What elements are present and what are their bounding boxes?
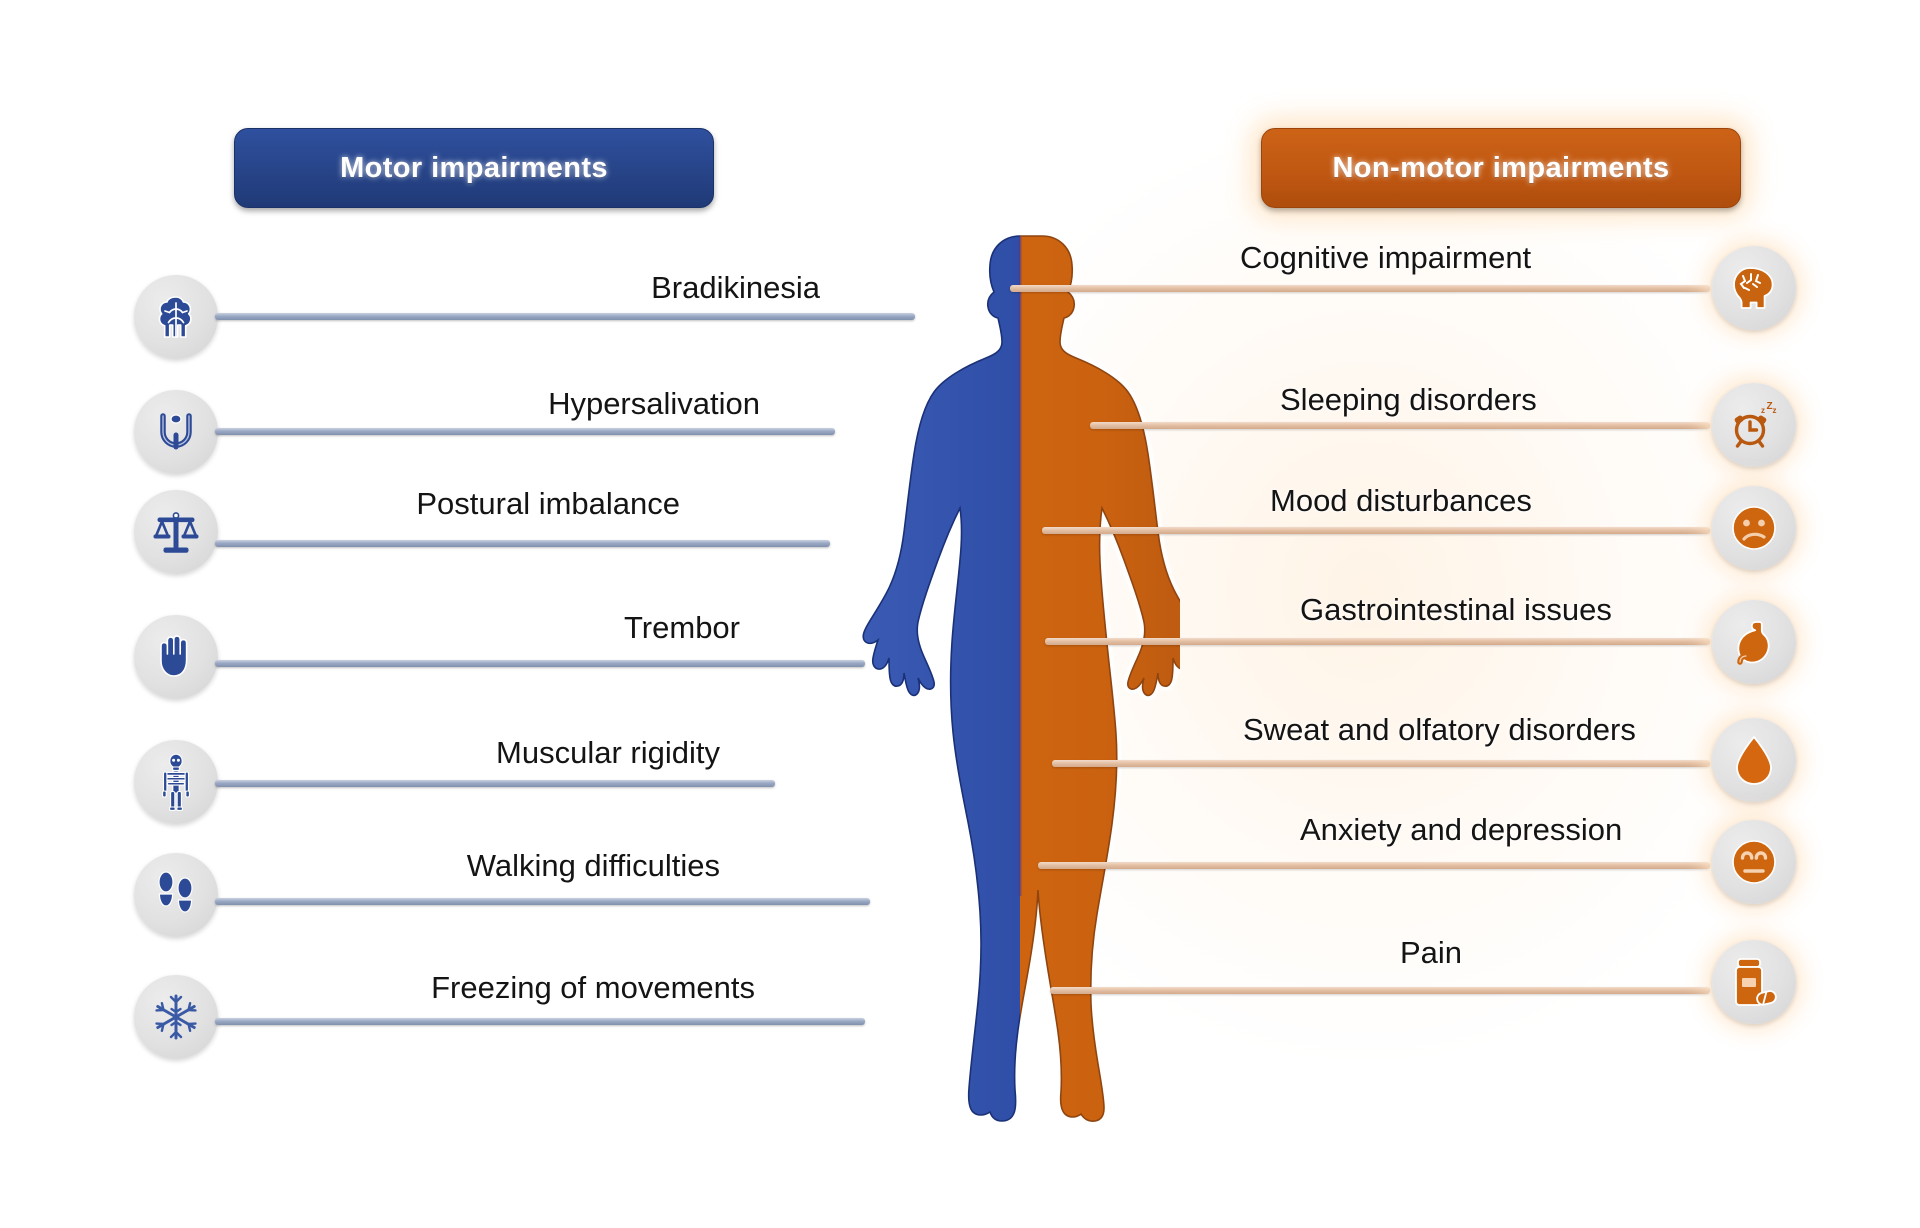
label-trembor: Trembor xyxy=(320,610,740,646)
icon-medallion-footprints[interactable] xyxy=(134,853,218,937)
label-anxiety-depression: Anxiety and depression xyxy=(1300,812,1720,848)
label-hypersalivation: Hypersalivation xyxy=(300,386,760,422)
connector-line-mood-disturbances xyxy=(1042,527,1710,534)
connector-line-anxiety-depression xyxy=(1038,862,1710,869)
connector-line-muscular-rigidity xyxy=(215,780,775,787)
stomach-icon xyxy=(1728,616,1780,668)
label-cognitive-impairment: Cognitive impairment xyxy=(1240,240,1740,276)
connector-line-pain xyxy=(1050,987,1710,994)
connector-line-sleeping-disorders xyxy=(1090,422,1710,429)
alarm-clock-zzz-icon: z Z z xyxy=(1727,398,1781,452)
icon-medallion-head-brain[interactable] xyxy=(1712,246,1796,330)
header-non-motor-impairments: Non-motor impairments xyxy=(1261,128,1741,208)
skeleton-icon xyxy=(156,753,196,811)
svg-text:z: z xyxy=(1773,406,1777,415)
label-gastrointestinal-issues: Gastrointestinal issues xyxy=(1300,592,1720,628)
icon-medallion-snowflake[interactable] xyxy=(134,975,218,1059)
sad-face-icon xyxy=(1727,501,1781,555)
connector-line-walking-difficulties xyxy=(215,898,870,905)
header-motor-impairments: Motor impairments xyxy=(234,128,714,208)
label-sleeping-disorders: Sleeping disorders xyxy=(1280,382,1710,418)
snowflake-icon xyxy=(150,991,202,1043)
icon-medallion-hand[interactable] xyxy=(134,615,218,699)
icon-medallion-sad-face[interactable] xyxy=(1712,486,1796,570)
label-sweat-olfatory-disorders: Sweat and olfatory disorders xyxy=(1243,712,1713,748)
depressed-face-icon xyxy=(1727,835,1781,889)
icon-medallion-brain[interactable] xyxy=(134,275,218,359)
icon-medallion-depressed-face[interactable] xyxy=(1712,820,1796,904)
icon-medallion-balance-scale[interactable] xyxy=(134,490,218,574)
icon-medallion-alarm-clock[interactable]: z Z z xyxy=(1712,383,1796,467)
head-brain-icon xyxy=(1728,262,1780,314)
connector-line-postural-imbalance xyxy=(215,540,830,547)
label-postural-imbalance: Postural imbalance xyxy=(280,486,680,522)
header-motor-label: Motor impairments xyxy=(340,152,608,185)
connector-line-cognitive-impairment xyxy=(1010,285,1710,292)
header-non-motor-label: Non-motor impairments xyxy=(1332,152,1669,185)
tongue-icon xyxy=(151,407,201,457)
icon-medallion-skeleton[interactable] xyxy=(134,740,218,824)
label-bradikinesia: Bradikinesia xyxy=(320,270,820,306)
footprints-icon xyxy=(152,868,200,922)
infographic-canvas: Motor impairments Non-motor impairments … xyxy=(0,0,1920,1228)
label-mood-disturbances: Mood disturbances xyxy=(1270,483,1710,519)
icon-medallion-tongue[interactable] xyxy=(134,390,218,474)
label-walking-difficulties: Walking difficulties xyxy=(290,848,720,884)
label-muscular-rigidity: Muscular rigidity xyxy=(300,735,720,771)
connector-line-trembor xyxy=(215,660,865,667)
label-pain: Pain xyxy=(1400,935,1700,971)
body-center-divider xyxy=(1019,236,1022,896)
connector-line-sweat-olfatory-disorders xyxy=(1052,760,1710,767)
hand-icon xyxy=(152,631,200,683)
human-body-silhouette xyxy=(860,232,1180,1142)
icon-medallion-water-drop[interactable] xyxy=(1712,718,1796,802)
connector-line-hypersalivation xyxy=(215,428,835,435)
icon-medallion-pill-bottle[interactable] xyxy=(1712,940,1796,1024)
connector-line-gastrointestinal-issues xyxy=(1045,638,1710,645)
label-freezing-of-movements: Freezing of movements xyxy=(280,970,755,1006)
brain-icon xyxy=(150,291,202,343)
pill-bottle-icon xyxy=(1729,956,1779,1008)
water-drop-icon xyxy=(1731,733,1777,787)
balance-scale-icon xyxy=(150,506,202,558)
icon-medallion-stomach[interactable] xyxy=(1712,600,1796,684)
connector-line-bradikinesia xyxy=(215,313,915,320)
connector-line-freezing-of-movements xyxy=(215,1018,865,1025)
svg-text:z: z xyxy=(1761,406,1765,415)
